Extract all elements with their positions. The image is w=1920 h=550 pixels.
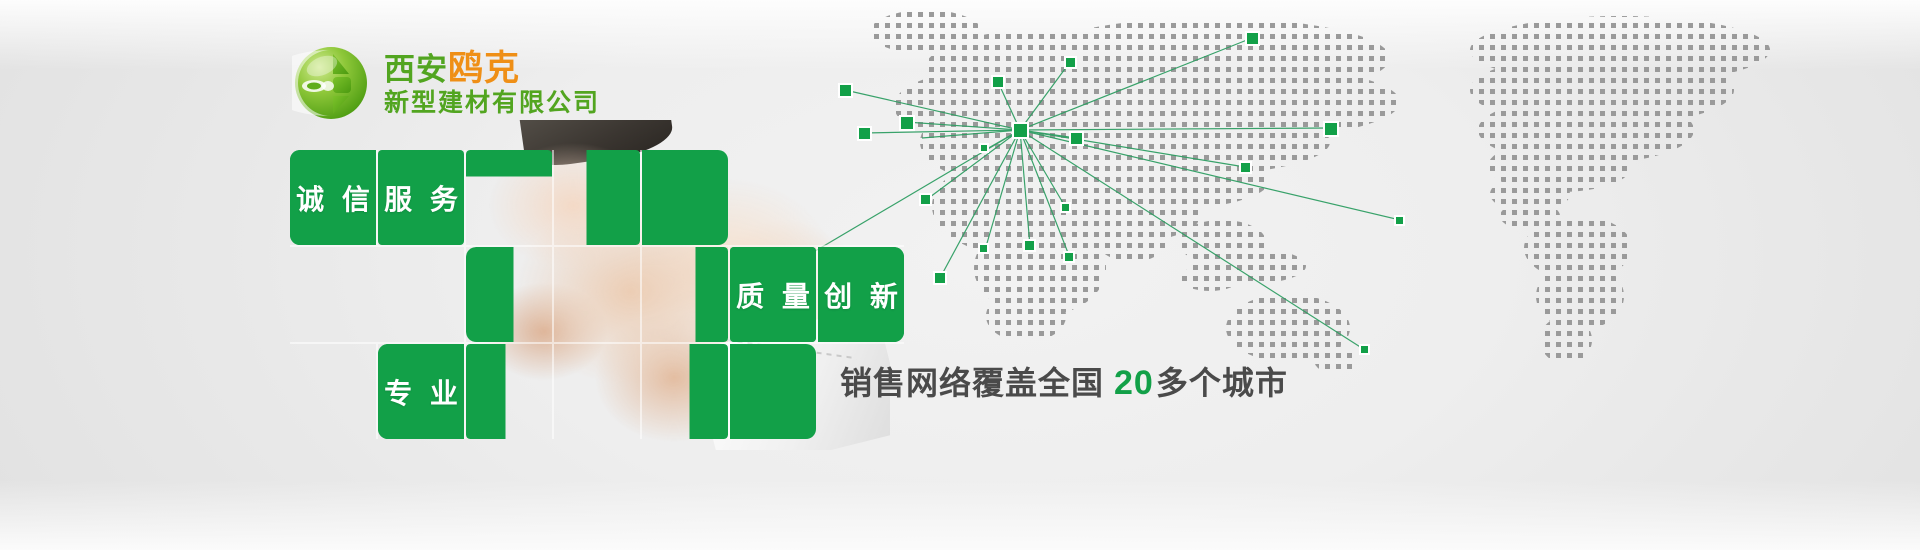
tagline-city-count: 20	[1114, 364, 1154, 402]
logo-city-name: 西安	[384, 52, 448, 87]
tile-chuangxin-top[interactable]: 创 新	[818, 247, 904, 342]
tile-zhuanye-top[interactable]: 专 业	[378, 344, 464, 439]
bottom-edge-fade	[0, 480, 1920, 550]
tile-overlay-r1c5	[642, 150, 728, 245]
tile-label: 诚 信	[291, 178, 375, 218]
world-map	[740, 10, 1920, 380]
tile-label: 服 务	[379, 178, 463, 218]
logo-wordmark: 西安鸥克 新型建材有限公司	[384, 50, 600, 117]
tile-overlay-r2c4	[642, 247, 728, 342]
world-dot-map-icon	[740, 10, 1920, 380]
tagline-suffix: 多个城市	[1156, 365, 1288, 401]
tile-fuwu-top[interactable]: 服 务	[378, 150, 464, 245]
tile-r3c3	[554, 344, 640, 439]
promo-banner: 西安鸥克 新型建材有限公司 诚 信 服 务 质 量 创 新	[0, 0, 1920, 550]
tile-overlay-r1c4	[554, 150, 640, 245]
tile-label: 专 业	[379, 372, 463, 412]
tile-overlay-r1c3	[466, 150, 552, 245]
sales-network-tagline: 销售网络覆盖全国20多个城市	[840, 358, 1288, 404]
tile-r2c3	[554, 247, 640, 342]
tile-zhiliang-top[interactable]: 质 量	[730, 247, 816, 342]
company-logo[interactable]: 西安鸥克 新型建材有限公司	[292, 44, 600, 122]
logo-brand-name: 鸥克	[448, 49, 520, 88]
company-globe-logo-icon	[292, 44, 370, 122]
tile-label: 质 量	[731, 275, 815, 315]
tile-overlay-r3c4	[642, 344, 728, 439]
logo-line-2: 新型建材有限公司	[384, 90, 600, 117]
logo-line-1: 西安鸥克	[384, 50, 600, 87]
tile-overlay-r2c2	[466, 247, 552, 342]
tile-label: 创 新	[819, 275, 903, 315]
value-tile-mosaic: 诚 信 服 务 质 量 创 新 专 业	[290, 150, 910, 415]
tile-overlay-r3c2	[466, 344, 552, 439]
tagline-prefix: 销售网络覆盖全国	[840, 365, 1104, 401]
tile-overlay-r3c5	[730, 344, 816, 439]
tile-chengxin-top[interactable]: 诚 信	[290, 150, 376, 245]
